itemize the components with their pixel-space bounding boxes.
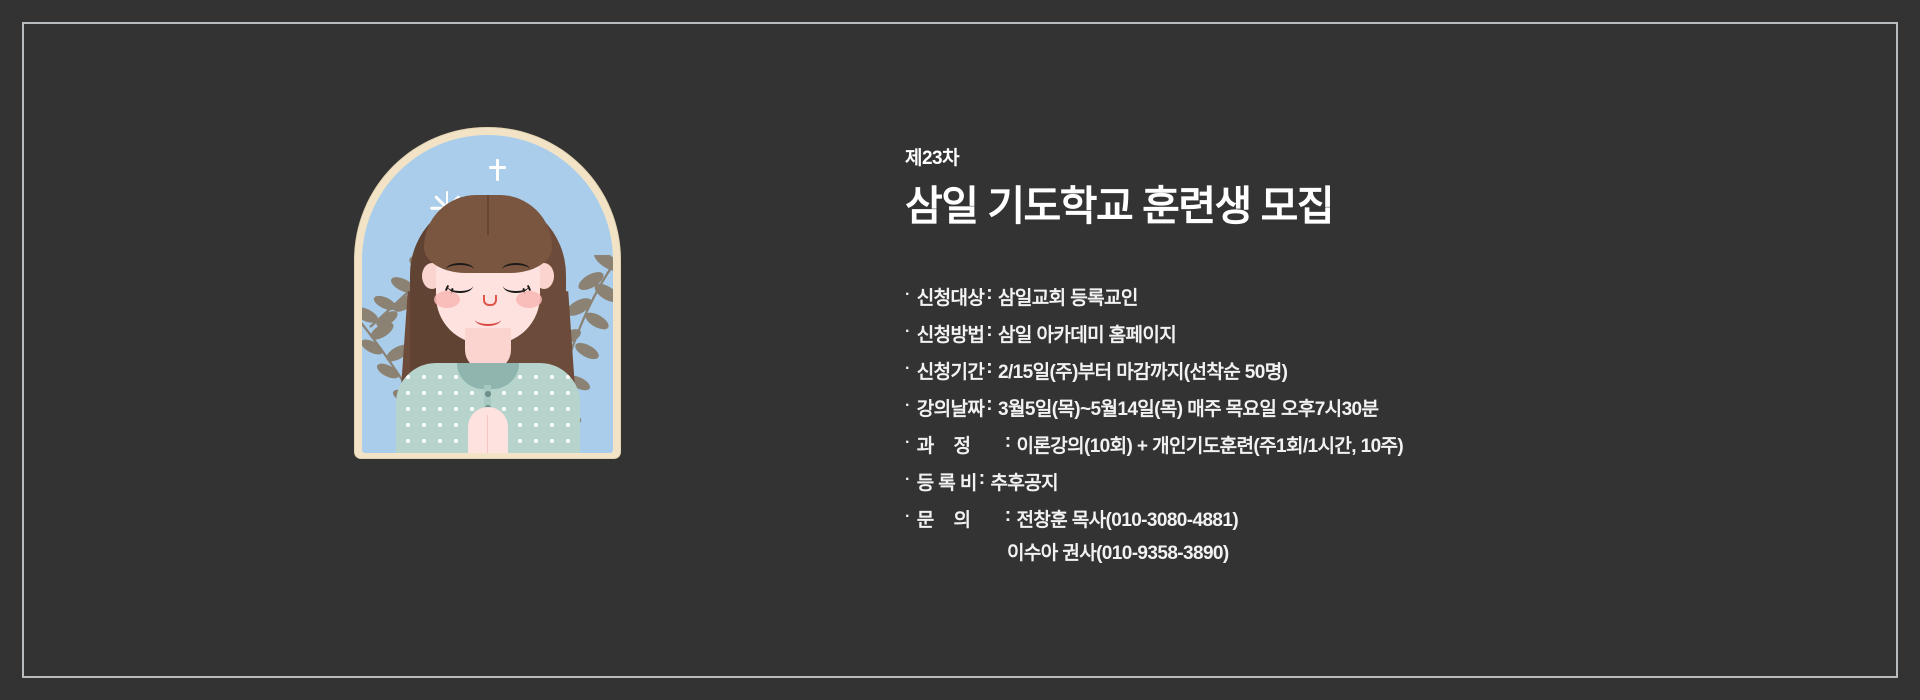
list-item: · 문 의 : 전창훈 목사(010-3080-4881)	[905, 505, 1725, 532]
details-list: · 신청대상 : 삼일교회 등록교인 · 신청방법 : 삼일 아카데미 홈페이지…	[905, 283, 1725, 575]
list-item: · 과 정 : 이론강의(10회) + 개인기도훈련(주1회/1시간, 10주)	[905, 431, 1725, 458]
arch-interior	[362, 135, 613, 453]
praying-hands	[468, 407, 508, 453]
detail-separator: :	[1005, 505, 1011, 527]
list-item: · 등 록 비 : 추후공지	[905, 468, 1725, 495]
detail-label: 과 정	[917, 431, 1003, 458]
detail-value: 이수아 권사(010-9358-3890)	[1007, 538, 1229, 565]
bullet-icon: ·	[905, 505, 910, 529]
detail-separator: :	[986, 394, 992, 416]
detail-separator: :	[1005, 431, 1011, 453]
list-item: · 신청방법 : 삼일 아카데미 홈페이지	[905, 320, 1725, 347]
detail-value: 전창훈 목사(010-3080-4881)	[1016, 505, 1238, 532]
kicker-text: 제23차	[905, 143, 959, 170]
praying-woman-arch-illustration	[355, 128, 620, 458]
eyebrow-right	[502, 263, 530, 276]
hair-part	[487, 195, 489, 235]
mouth-smile	[475, 313, 501, 326]
detail-separator: :	[986, 320, 992, 342]
detail-separator: :	[986, 357, 992, 379]
poster-text-column: 제23차 삼일 기도학교 훈련생 모집 · 신청대상 : 삼일교회 등록교인 ·…	[905, 0, 1725, 700]
bullet-icon: ·	[905, 320, 910, 344]
detail-value: 이론강의(10회) + 개인기도훈련(주1회/1시간, 10주)	[1016, 431, 1403, 458]
list-item: · 신청기간 : 2/15일(주)부터 마감까지(선착순 50명)	[905, 357, 1725, 384]
detail-label: 등 록 비	[917, 468, 977, 495]
list-item: · 신청대상 : 삼일교회 등록교인	[905, 283, 1725, 310]
page-title: 삼일 기도학교 훈련생 모집	[905, 172, 1333, 232]
detail-value: 삼일 아카데미 홈페이지	[998, 320, 1176, 347]
nose	[483, 295, 497, 306]
detail-label: 신청대상	[917, 283, 985, 310]
list-item: · 강의날짜 : 3월5일(목)~5월14일(목) 매주 목요일 오후7시30분	[905, 394, 1725, 421]
detail-label: 신청기간	[917, 357, 985, 384]
detail-label: 강의날짜	[917, 394, 985, 421]
detail-separator: :	[979, 468, 985, 490]
detail-value: 2/15일(주)부터 마감까지(선착순 50명)	[998, 357, 1287, 384]
blouse-button	[485, 391, 491, 397]
bullet-icon: ·	[905, 468, 910, 492]
cheek-right	[516, 291, 542, 308]
detail-label: 문 의	[917, 505, 1003, 532]
contact-second-line: 이수아 권사(010-9358-3890)	[905, 538, 1725, 565]
bullet-icon: ·	[905, 394, 910, 418]
eyebrow-left	[446, 263, 474, 276]
cross-sparkle-icon	[496, 159, 499, 181]
bullet-icon: ·	[905, 431, 910, 455]
detail-label: 신청방법	[917, 320, 985, 347]
detail-value: 3월5일(목)~5월14일(목) 매주 목요일 오후7시30분	[998, 394, 1378, 421]
bullet-icon: ·	[905, 283, 910, 307]
detail-value: 추후공지	[990, 468, 1058, 495]
detail-separator: :	[986, 283, 992, 305]
cheek-left	[434, 291, 460, 308]
detail-value: 삼일교회 등록교인	[998, 283, 1138, 310]
poster-canvas: 제23차 삼일 기도학교 훈련생 모집 · 신청대상 : 삼일교회 등록교인 ·…	[0, 0, 1920, 700]
bullet-icon: ·	[905, 357, 910, 381]
